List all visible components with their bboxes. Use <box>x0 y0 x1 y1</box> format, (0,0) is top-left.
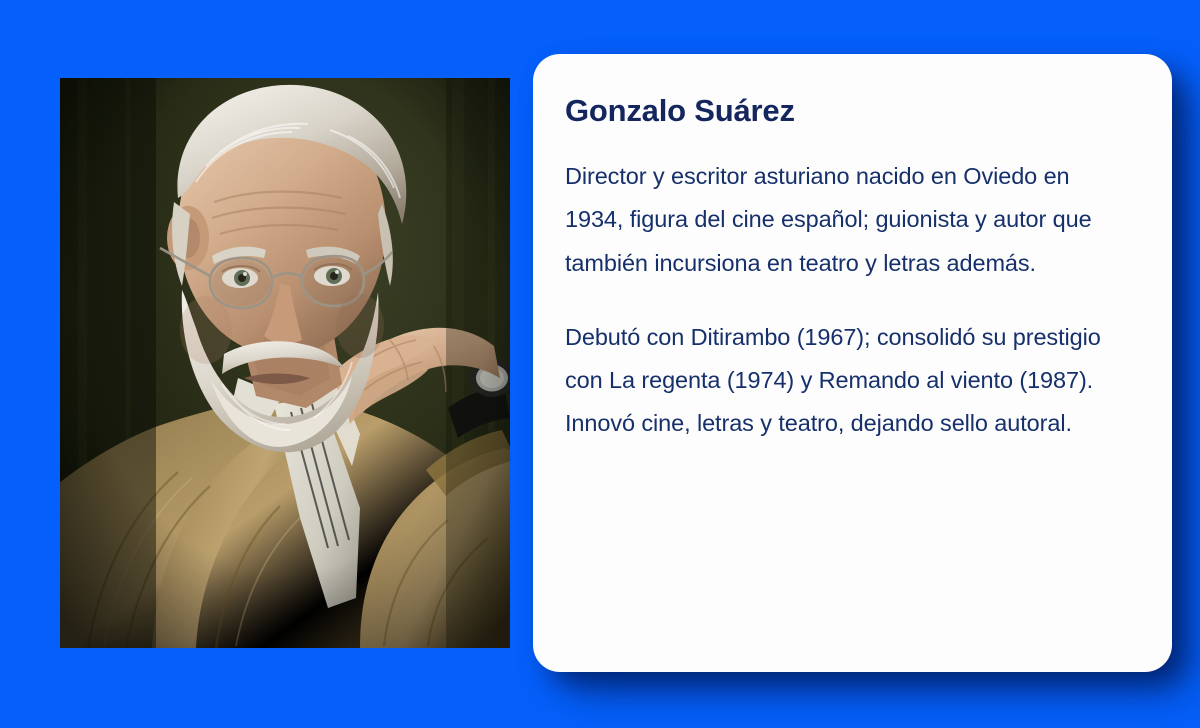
bio-card-content: Gonzalo Suárez Director y escritor astur… <box>565 92 1132 446</box>
poster-canvas: Gonzalo Suárez Director y escritor astur… <box>0 0 1200 728</box>
bio-paragraph-1: Director y escritor asturiano nacido en … <box>565 155 1132 285</box>
page-title: Gonzalo Suárez <box>565 92 1132 129</box>
bio-paragraph-2: Debutó con Ditirambo (1967); consolidó s… <box>565 316 1132 446</box>
portrait-photo <box>60 78 510 648</box>
portrait-illustration <box>60 78 510 648</box>
bio-card: Gonzalo Suárez Director y escritor astur… <box>533 54 1172 672</box>
